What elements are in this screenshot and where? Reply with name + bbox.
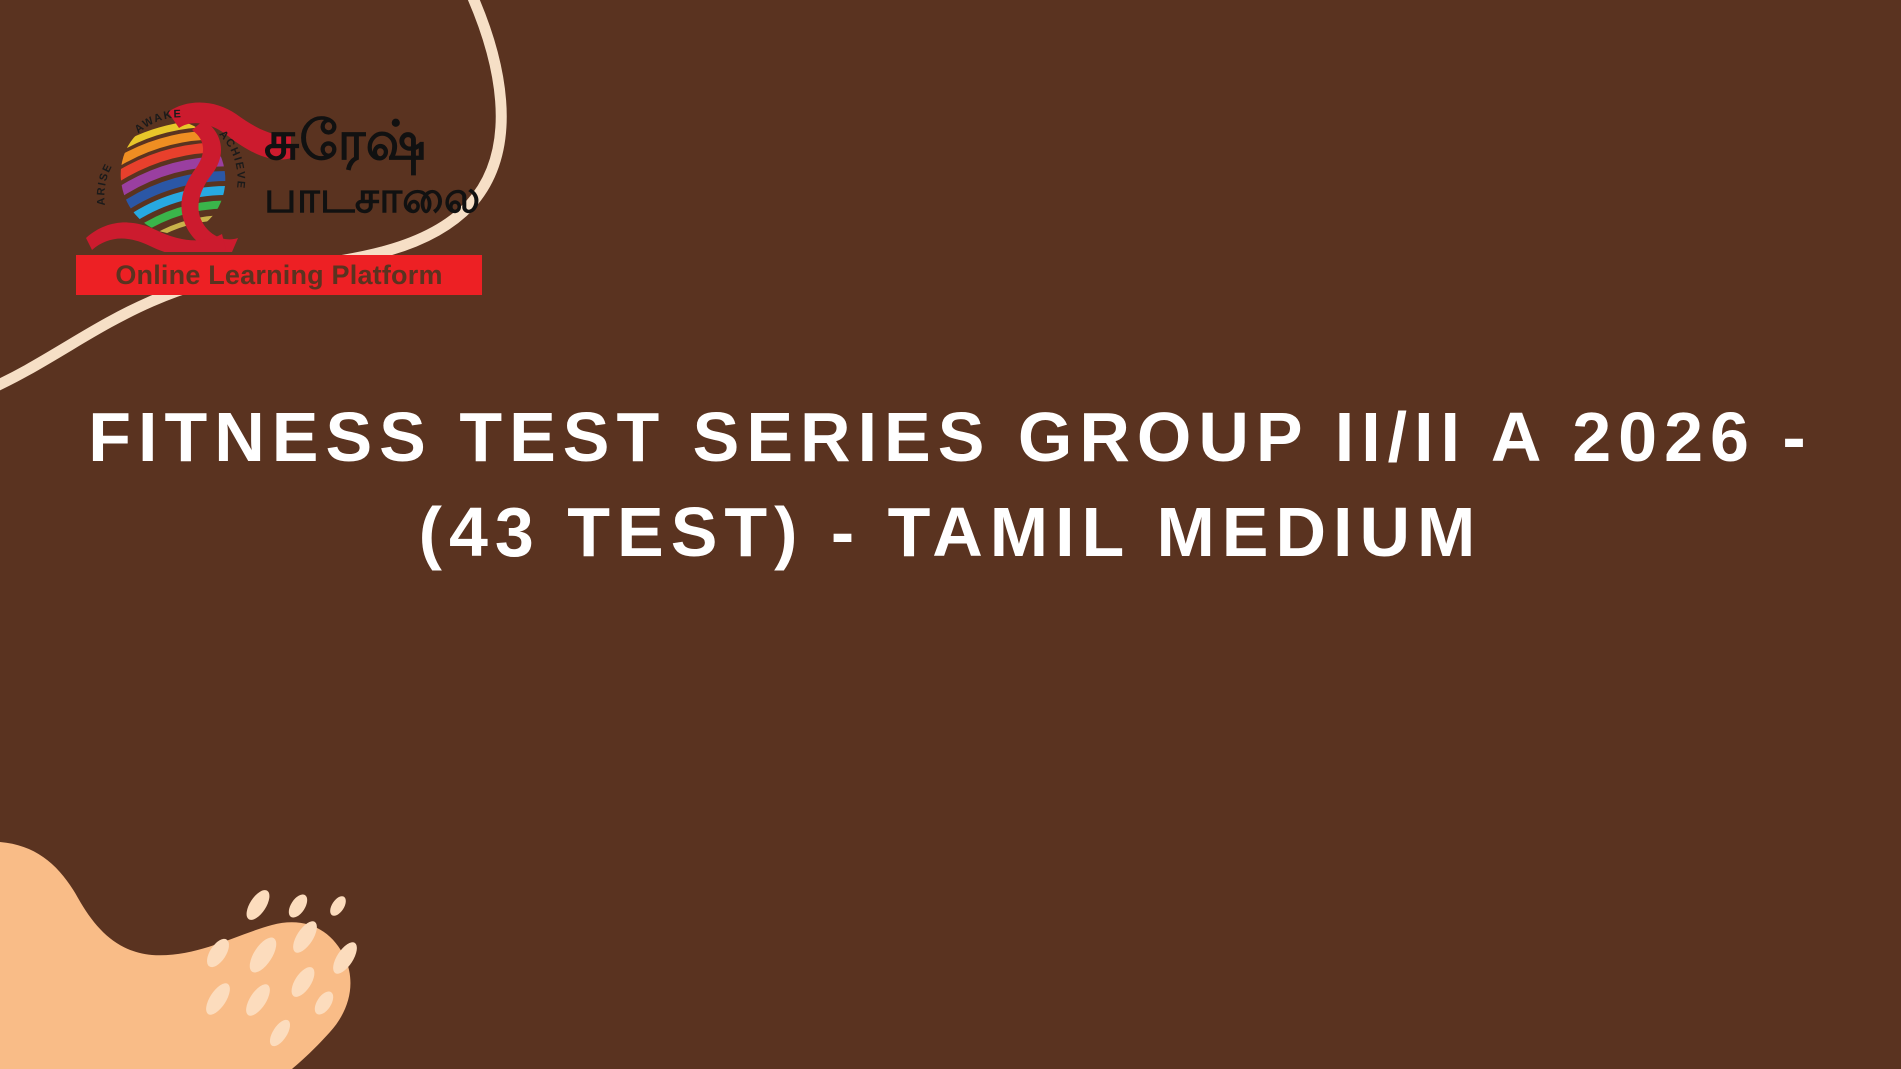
wordmark-line-2: பாடசாலை [264,176,554,220]
banner-canvas: ARISE AWAKE ACHIEVE சுரேஷ் பாடசாலை Onlin… [0,0,1901,1069]
globe-logo-icon: ARISE AWAKE ACHIEVE [76,92,291,252]
tagline-label: Online Learning Platform [115,260,442,291]
brand-wordmark: சுரேஷ் பாடசாலை [264,114,554,244]
peach-organic-blob [0,842,350,1069]
peach-dash-marks [201,886,361,1049]
wordmark-line-1: சுரேஷ் [264,114,554,168]
title-line-1: FITNESS TEST SERIES GROUP II/II A 2026 - [10,390,1891,485]
title-line-2: (43 TEST) - TAMIL MEDIUM [10,485,1891,580]
motto-arise: ARISE [95,161,115,206]
page-title: FITNESS TEST SERIES GROUP II/II A 2026 -… [0,390,1901,580]
tagline-banner: Online Learning Platform [76,255,482,295]
